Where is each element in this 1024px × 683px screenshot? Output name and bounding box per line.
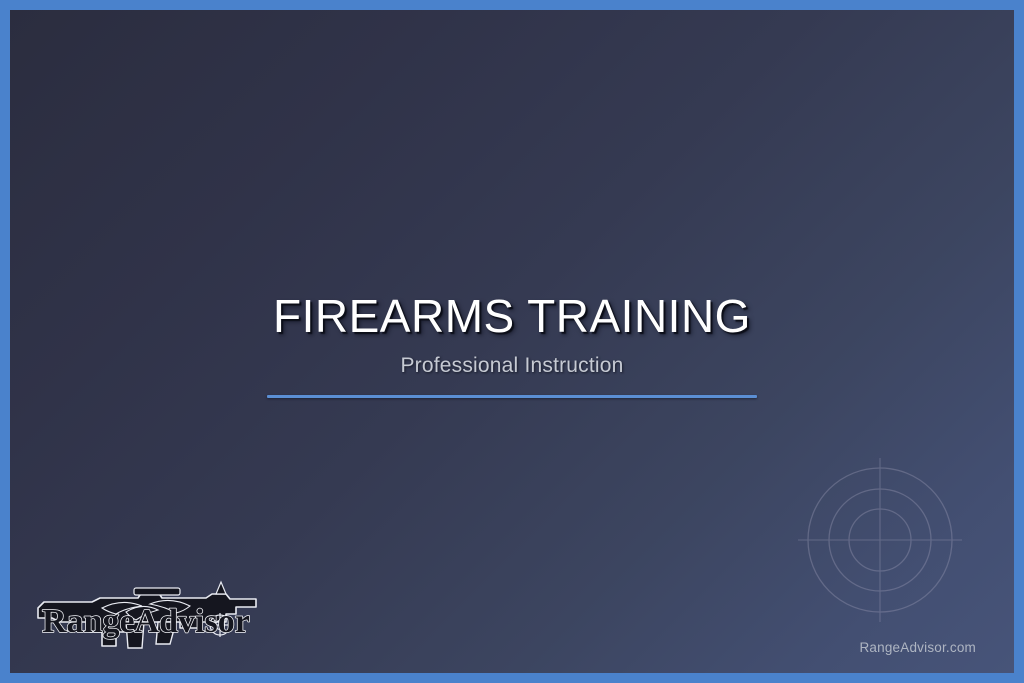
footer-url: RangeAdvisor.com [859, 640, 976, 655]
presentation-slide: FIREARMS TRAINING Professional Instructi… [0, 0, 1024, 683]
brand-logo: RangeAdvisor [30, 570, 268, 670]
rifle-icon: RangeAdvisor [38, 582, 256, 648]
accent-divider [267, 395, 757, 398]
title-block: FIREARMS TRAINING Professional Instructi… [10, 293, 1014, 398]
brand-logo-wordmark: RangeAdvisor [42, 603, 250, 640]
page-title: FIREARMS TRAINING [10, 293, 1014, 341]
slide-subtitle: Professional Instruction [10, 354, 1014, 378]
